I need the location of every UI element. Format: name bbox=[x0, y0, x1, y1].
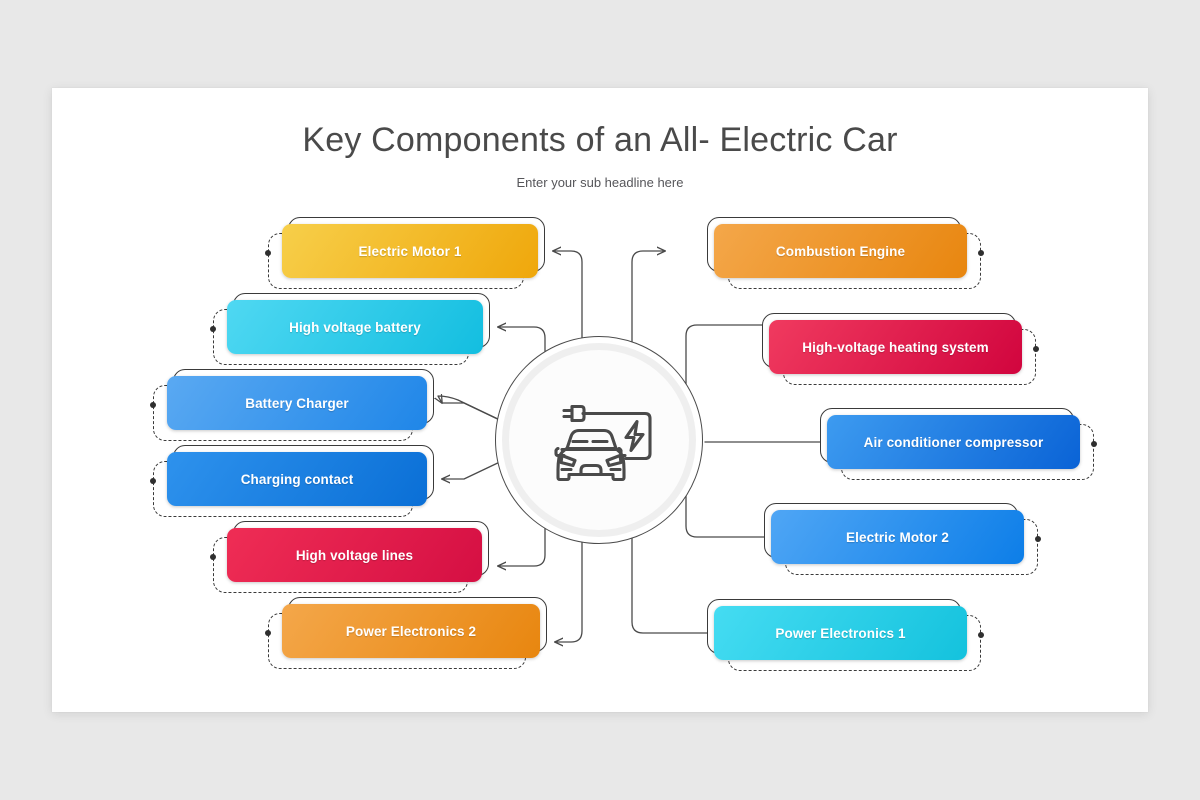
node-label-pill[interactable]: Combustion Engine bbox=[714, 224, 967, 278]
node-label-pill[interactable]: Electric Motor 1 bbox=[282, 224, 538, 278]
node-high-voltage-heating-system[interactable]: High-voltage heating system bbox=[769, 320, 1022, 374]
node-combustion-engine[interactable]: Combustion Engine bbox=[714, 224, 967, 278]
node-electric-motor-2[interactable]: Electric Motor 2 bbox=[771, 510, 1024, 564]
node-battery-charger[interactable]: Battery Charger bbox=[167, 376, 427, 430]
node-label-pill[interactable]: Charging contact bbox=[167, 452, 427, 506]
node-marker-dot bbox=[978, 250, 984, 256]
slide-canvas: Key Components of an All- Electric Car E… bbox=[52, 88, 1148, 712]
node-label-pill[interactable]: Battery Charger bbox=[167, 376, 427, 430]
node-label: Electric Motor 2 bbox=[846, 530, 949, 545]
node-power-electronics-1[interactable]: Power Electronics 1 bbox=[714, 606, 967, 660]
node-marker-dot bbox=[265, 630, 271, 636]
node-label: Charging contact bbox=[241, 472, 354, 487]
node-label-pill[interactable]: Power Electronics 1 bbox=[714, 606, 967, 660]
node-marker-dot bbox=[1035, 536, 1041, 542]
node-marker-dot bbox=[150, 402, 156, 408]
node-charging-contact[interactable]: Charging contact bbox=[167, 452, 427, 506]
node-label: High voltage battery bbox=[289, 320, 421, 335]
node-label: Combustion Engine bbox=[776, 244, 905, 259]
node-marker-dot bbox=[1091, 441, 1097, 447]
node-label-pill[interactable]: Electric Motor 2 bbox=[771, 510, 1024, 564]
node-label: Power Electronics 2 bbox=[346, 624, 476, 639]
node-air-conditioner-compressor[interactable]: Air conditioner compressor bbox=[827, 415, 1080, 469]
node-marker-dot bbox=[210, 326, 216, 332]
node-high-voltage-lines[interactable]: High voltage lines bbox=[227, 528, 482, 582]
node-marker-dot bbox=[978, 632, 984, 638]
node-marker-dot bbox=[1033, 346, 1039, 352]
center-hub[interactable] bbox=[495, 336, 703, 544]
node-marker-dot bbox=[265, 250, 271, 256]
node-label-pill[interactable]: High-voltage heating system bbox=[769, 320, 1022, 374]
node-high-voltage-battery[interactable]: High voltage battery bbox=[227, 300, 483, 354]
page-subtitle: Enter your sub headline here bbox=[52, 175, 1148, 190]
page-title: Key Components of an All- Electric Car bbox=[52, 121, 1148, 160]
node-marker-dot bbox=[150, 478, 156, 484]
node-label: Power Electronics 1 bbox=[775, 626, 905, 641]
node-label-pill[interactable]: Air conditioner compressor bbox=[827, 415, 1080, 469]
node-marker-dot bbox=[210, 554, 216, 560]
node-label-pill[interactable]: High voltage battery bbox=[227, 300, 483, 354]
electric-car-charging-icon bbox=[540, 392, 658, 489]
node-label: Electric Motor 1 bbox=[359, 244, 462, 259]
node-power-electronics-2[interactable]: Power Electronics 2 bbox=[282, 604, 540, 658]
node-label: High-voltage heating system bbox=[802, 340, 989, 355]
node-electric-motor-1[interactable]: Electric Motor 1 bbox=[282, 224, 538, 278]
node-label-pill[interactable]: High voltage lines bbox=[227, 528, 482, 582]
node-label: Battery Charger bbox=[245, 396, 349, 411]
node-label-pill[interactable]: Power Electronics 2 bbox=[282, 604, 540, 658]
node-label: High voltage lines bbox=[296, 548, 413, 563]
node-label: Air conditioner compressor bbox=[864, 435, 1044, 450]
